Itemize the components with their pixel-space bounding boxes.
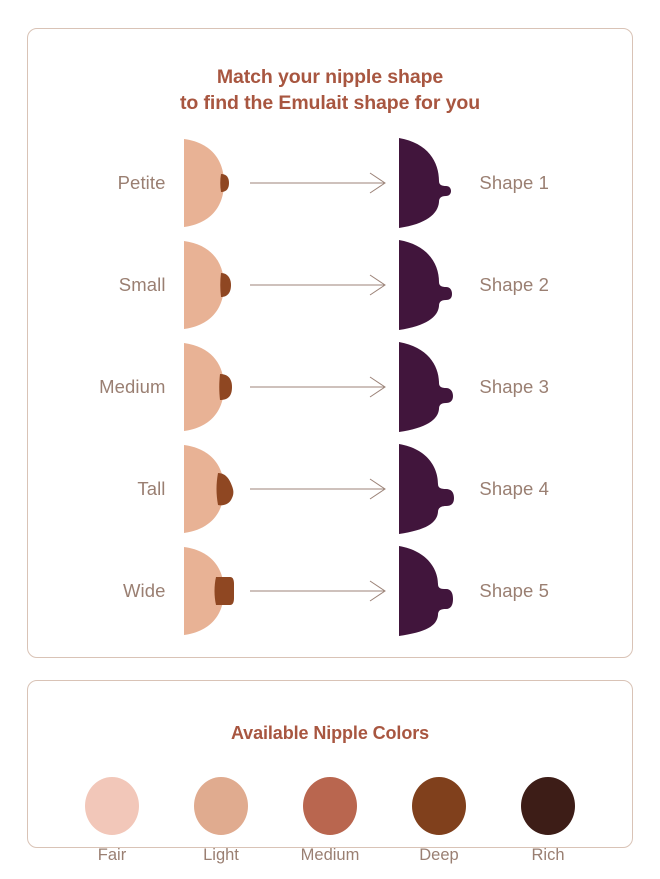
- nipple-shape-label: Wide: [28, 580, 180, 602]
- swatch-dot: [303, 777, 357, 835]
- emulait-shape-label: Shape 1: [463, 172, 632, 194]
- swatch-label: Fair: [98, 846, 126, 865]
- nipple-shape-label: Tall: [28, 478, 180, 500]
- colors-card-title: Available Nipple Colors: [28, 696, 632, 744]
- breast-profile-icon: [180, 544, 244, 638]
- breast-profile-icon: [180, 238, 244, 332]
- emulait-shape-label: Shape 4: [463, 478, 632, 500]
- match-rows: Petite: [28, 132, 632, 642]
- match-card-title: Match your nipple shape to find the Emul…: [28, 64, 632, 116]
- color-swatch-rich[interactable]: Rich: [508, 777, 588, 865]
- breast-profile-icon: [180, 136, 244, 230]
- nipple-shape-label: Petite: [28, 172, 180, 194]
- swatch-dot: [521, 777, 575, 835]
- emulait-shape-label: Shape 3: [463, 376, 632, 398]
- arrow-right-icon: [244, 172, 396, 194]
- color-swatch-deep[interactable]: Deep: [399, 777, 479, 865]
- match-row[interactable]: Petite: [28, 132, 632, 234]
- match-row[interactable]: Tall Sh: [28, 438, 632, 540]
- title-line-1: Match your nipple shape: [28, 64, 632, 90]
- swatch-dot: [194, 777, 248, 835]
- match-row[interactable]: Small S: [28, 234, 632, 336]
- swatch-label: Light: [203, 846, 239, 865]
- bottle-teat-icon: [396, 544, 464, 638]
- match-row[interactable]: Medium: [28, 336, 632, 438]
- arrow-right-icon: [244, 376, 396, 398]
- color-swatch-medium[interactable]: Medium: [290, 777, 370, 865]
- emulait-shape-label: Shape 5: [463, 580, 632, 602]
- color-swatch-fair[interactable]: Fair: [72, 777, 152, 865]
- infographic-page: Match your nipple shape to find the Emul…: [0, 0, 660, 879]
- arrow-right-icon: [244, 478, 396, 500]
- bottle-teat-icon: [396, 442, 464, 536]
- swatch-dot: [412, 777, 466, 835]
- breast-profile-icon: [180, 442, 244, 536]
- match-row[interactable]: Wide Sh: [28, 540, 632, 642]
- color-swatch-light[interactable]: Light: [181, 777, 261, 865]
- swatch-label: Deep: [419, 846, 458, 865]
- breast-profile-icon: [180, 340, 244, 434]
- arrow-right-icon: [244, 274, 396, 296]
- title-line-2: to find the Emulait shape for you: [28, 90, 632, 116]
- bottle-teat-icon: [396, 136, 464, 230]
- emulait-shape-label: Shape 2: [463, 274, 632, 296]
- swatch-label: Medium: [301, 846, 360, 865]
- available-colors-card: Available Nipple Colors Fair Light Mediu…: [27, 680, 633, 848]
- swatch-dot: [85, 777, 139, 835]
- swatch-label: Rich: [531, 846, 564, 865]
- color-swatch-list: Fair Light Medium Deep Rich: [28, 759, 632, 865]
- nipple-shape-label: Small: [28, 274, 180, 296]
- bottle-teat-icon: [396, 238, 464, 332]
- nipple-shape-label: Medium: [28, 376, 180, 398]
- arrow-right-icon: [244, 580, 396, 602]
- bottle-teat-icon: [396, 340, 464, 434]
- match-shape-card: Match your nipple shape to find the Emul…: [27, 28, 633, 658]
